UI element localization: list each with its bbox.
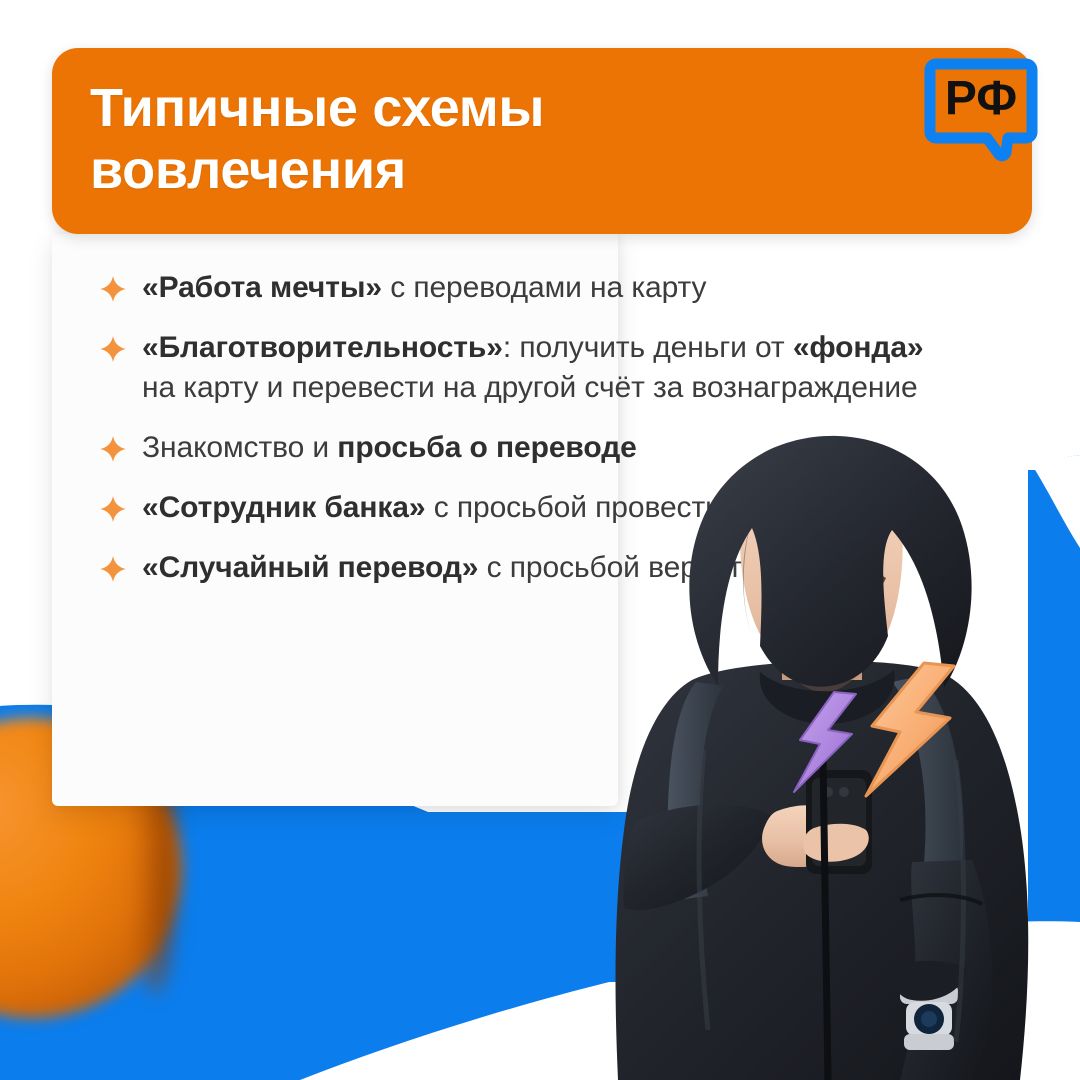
hood [689,436,971,688]
list-item-emph: «Сотрудник банка» [142,491,425,524]
diamond-bullet-icon [100,496,126,522]
list-item-emph-2: «фонда» [793,331,924,364]
lightning-bolt-purple-icon [790,690,860,795]
list-item-emph: просьба о переводе [337,431,636,464]
list-item-emph: «Работа мечты» [142,271,382,304]
rf-speech-bubble-logo[interactable]: РФ [918,40,1044,166]
list-item-text: «Работа мечты» с переводами на карту [142,268,706,307]
header-card: Типичные схемы вовлечения [52,48,1032,234]
list-item-text: «Благотворительность»: получить деньги о… [142,328,932,407]
list-item-rest-2: на карту и перевести на другой счёт за в… [142,371,918,404]
diamond-bullet-icon [100,556,126,582]
page-title: Типичные схемы вовлечения [90,78,890,201]
list-item-text: Знакомство и просьба о переводе [142,428,637,467]
list-item: «Благотворительность»: получить деньги о… [52,328,932,407]
list-item-rest: Знакомство и [142,431,337,464]
list-item-rest: с переводами на карту [382,271,706,304]
diamond-bullet-icon [100,336,126,362]
diamond-bullet-icon [100,276,126,302]
list-item-rest: : получить деньги от [503,331,793,364]
logo-text: РФ [945,72,1017,125]
list-item: «Работа мечты» с переводами на карту [52,268,932,307]
infographic-canvas: Типичные схемы вовлечения РФ «Работа меч… [0,0,1080,1080]
list-item-emph: «Случайный перевод» [142,551,478,584]
list-item-emph: «Благотворительность» [142,331,503,364]
diamond-bullet-icon [100,436,126,462]
lightning-bolt-orange-icon [858,660,958,800]
